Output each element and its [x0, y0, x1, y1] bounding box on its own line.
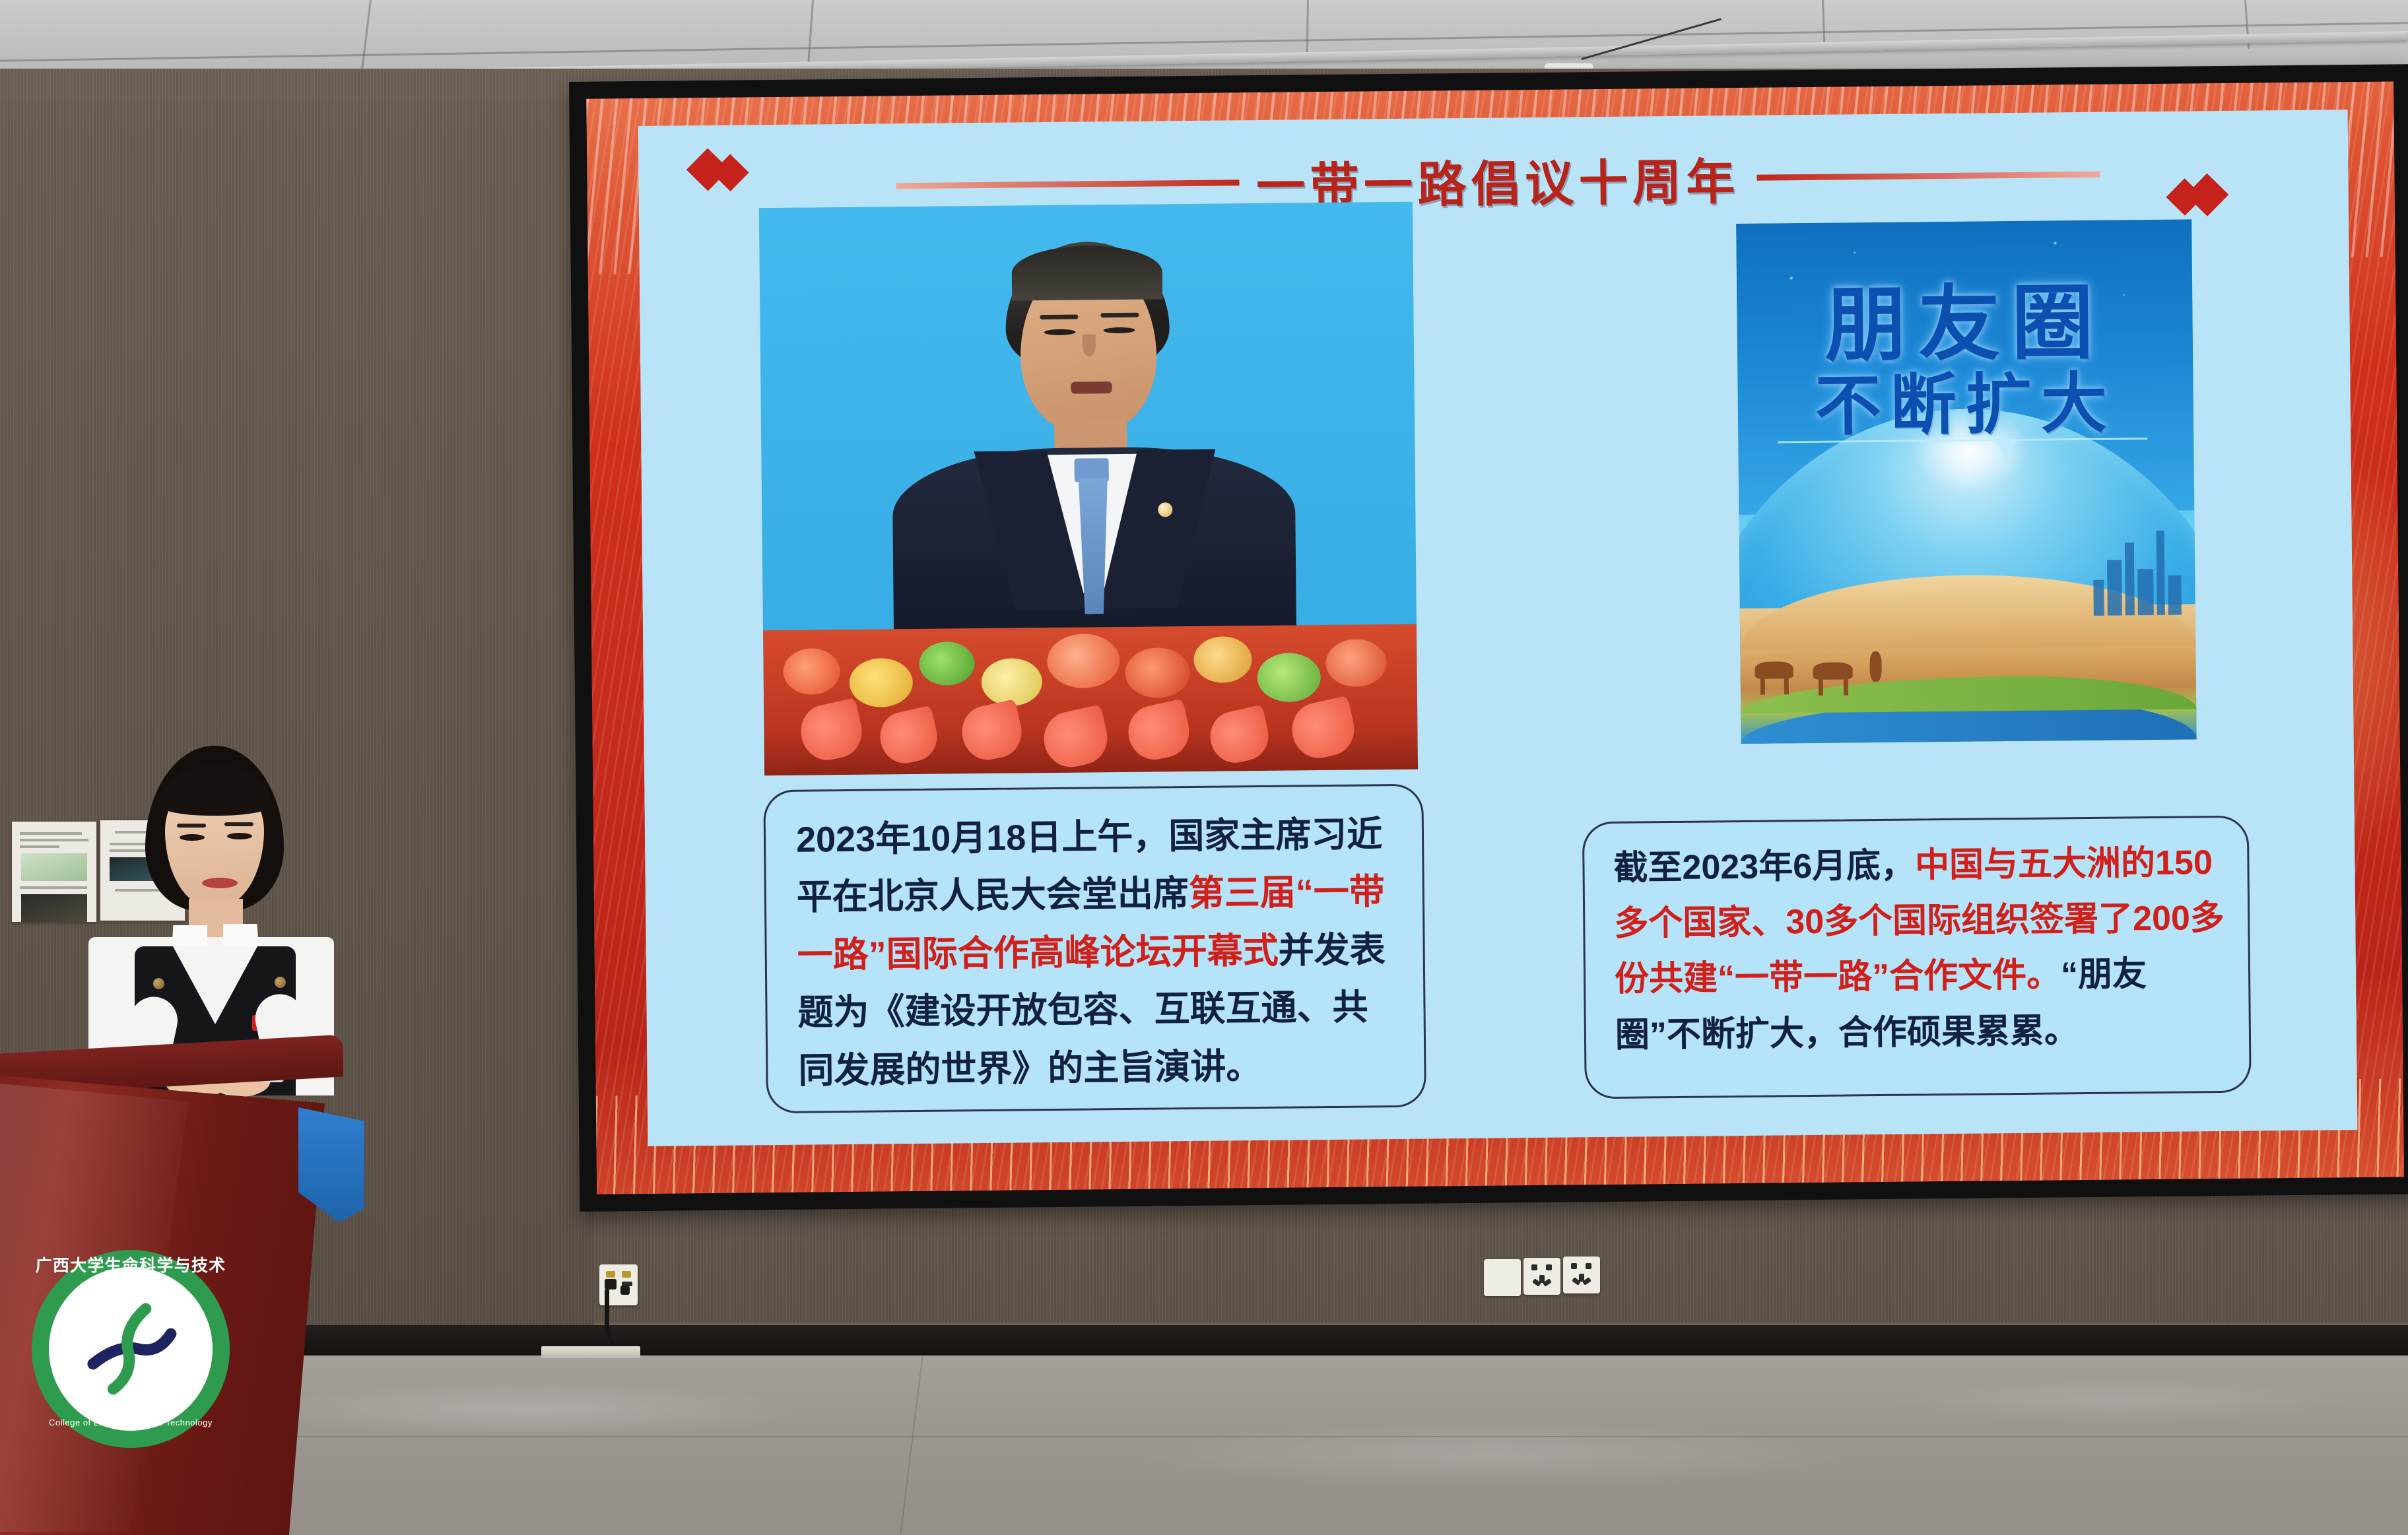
- right-textbox: 截至2023年6月底，中国与五大洲的150多个国家、30多个国际组织签署了200…: [1582, 816, 2252, 1099]
- projected-slide[interactable]: 一带一路倡议十周年: [586, 81, 2404, 1194]
- speech-photo: [759, 202, 1418, 775]
- flower: [1047, 634, 1120, 688]
- poster-city-skyline: [2093, 530, 2182, 615]
- photo-figure-hair-top: [1011, 245, 1162, 300]
- socket-hole: [606, 1271, 615, 1278]
- photo-figure-mouth: [1071, 381, 1112, 394]
- socket-hole: [1586, 1263, 1591, 1269]
- building: [2125, 542, 2135, 615]
- poster-bubble-tail: [1995, 439, 2017, 461]
- socket-hole: [1531, 1264, 1537, 1270]
- photo-figure-brow: [1040, 315, 1078, 320]
- anthurium: [1205, 705, 1273, 767]
- building: [2107, 560, 2122, 615]
- wall-plate-blank[interactable]: [1484, 1259, 1521, 1296]
- building: [2138, 569, 2155, 615]
- building: [2157, 531, 2165, 615]
- left-textbox-text: 2023年10月18日上午，国家主席习近平在北京人民大会堂出席第三届“一带一路”…: [796, 806, 1402, 1100]
- socket-hole: [1571, 1263, 1577, 1269]
- speaker-vest-button: [275, 977, 286, 988]
- plug: [605, 1279, 617, 1290]
- anthurium: [1287, 696, 1359, 763]
- wall-socket-right[interactable]: [1563, 1257, 1600, 1293]
- socket-hole: [1546, 1264, 1552, 1270]
- speaker-vest-button: [153, 978, 164, 989]
- diamond-ornament-left: [692, 154, 743, 186]
- friend-circle-poster: 朋友圈 不断扩大: [1736, 219, 2197, 744]
- speaker-eye: [227, 833, 252, 839]
- ceiling-grid-line: [361, 0, 372, 71]
- photo-figure-nose: [1083, 334, 1096, 356]
- book-on-floor: [541, 1346, 640, 1358]
- logo-glyph-icon: [68, 1286, 193, 1412]
- lecture-hall-scene: 一带一路倡议十周年: [0, 0, 2408, 1535]
- anthurium: [1039, 704, 1113, 772]
- speaker-eye: [180, 834, 205, 841]
- anthurium: [957, 699, 1027, 765]
- logo-text-cn: 广西大学生命科学与技术学院: [32, 1253, 230, 1300]
- flower: [981, 658, 1042, 706]
- flower: [1257, 653, 1321, 702]
- flower: [1125, 647, 1190, 698]
- anthurium: [875, 705, 942, 768]
- anthurium: [1123, 698, 1195, 764]
- poster-text-line: [20, 845, 59, 848]
- flower: [1193, 636, 1252, 683]
- socket-hole: [622, 1271, 631, 1278]
- diamond-ornament-right: [2172, 180, 2223, 211]
- title-rule-right: [1757, 171, 2100, 180]
- poster-headline-2: 不断扩大: [1737, 348, 2193, 449]
- camel-driver: [1869, 651, 1881, 682]
- building: [2168, 575, 2182, 614]
- ceiling-grid-line: [807, 0, 814, 63]
- flower: [783, 648, 840, 695]
- segment-plain: 截至2023年6月底，: [1613, 846, 1915, 887]
- camel-leg: [1819, 676, 1823, 696]
- podium: 广西大学生命科学与技术学院 College of Life Science An…: [0, 1044, 370, 1535]
- speaker-brow: [177, 824, 206, 828]
- speaker-brow: [224, 822, 253, 826]
- building: [2094, 580, 2105, 616]
- photo-flower-arrangement: [763, 624, 1418, 775]
- logo-text-en: College of Life Science And Technology: [32, 1418, 230, 1427]
- diamond-icon: [2186, 174, 2228, 216]
- photo-figure-brow: [1100, 313, 1139, 318]
- flower: [919, 641, 975, 686]
- camel-leg: [1760, 675, 1765, 695]
- photo-figure-lapel-pin: [1158, 502, 1172, 517]
- flower: [1325, 639, 1387, 687]
- camel-leg: [1784, 674, 1789, 694]
- wall-socket-center[interactable]: [1523, 1258, 1560, 1295]
- anthurium: [795, 698, 867, 765]
- camel-leg: [1844, 675, 1848, 695]
- speaker-mouth: [202, 878, 238, 888]
- title-rule-left: [896, 180, 1239, 189]
- flower: [849, 658, 913, 707]
- right-textbox-text: 截至2023年6月底，中国与五大洲的150多个国家、30多个国际组织签署了200…: [1613, 835, 2228, 1063]
- ceiling-grid-line: [1306, 0, 1309, 57]
- left-textbox: 2023年10月18日上午，国家主席习近平在北京人民大会堂出席第三届“一带一路”…: [763, 784, 1426, 1114]
- projection-screen[interactable]: 一带一路倡议十周年: [569, 64, 2408, 1212]
